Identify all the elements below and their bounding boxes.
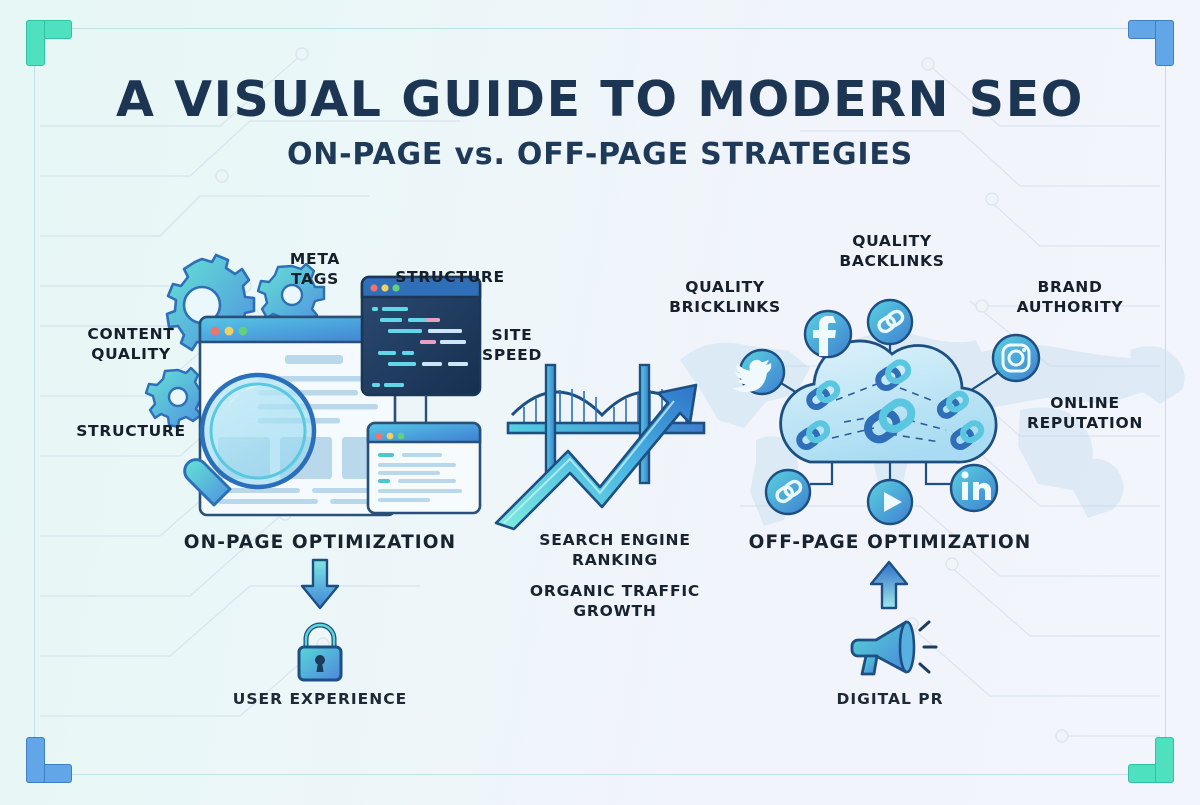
corner-bracket-top-right	[1130, 20, 1174, 64]
corner-bracket-bottom-right	[1130, 739, 1174, 783]
corner-bracket-bottom-left	[26, 739, 70, 783]
infographic-canvas: A VISUAL GUIDE TO MODERN SEO ON-PAGE vs.…	[0, 0, 1200, 805]
corner-bracket-top-left	[26, 20, 70, 64]
frame-border	[34, 28, 1166, 775]
